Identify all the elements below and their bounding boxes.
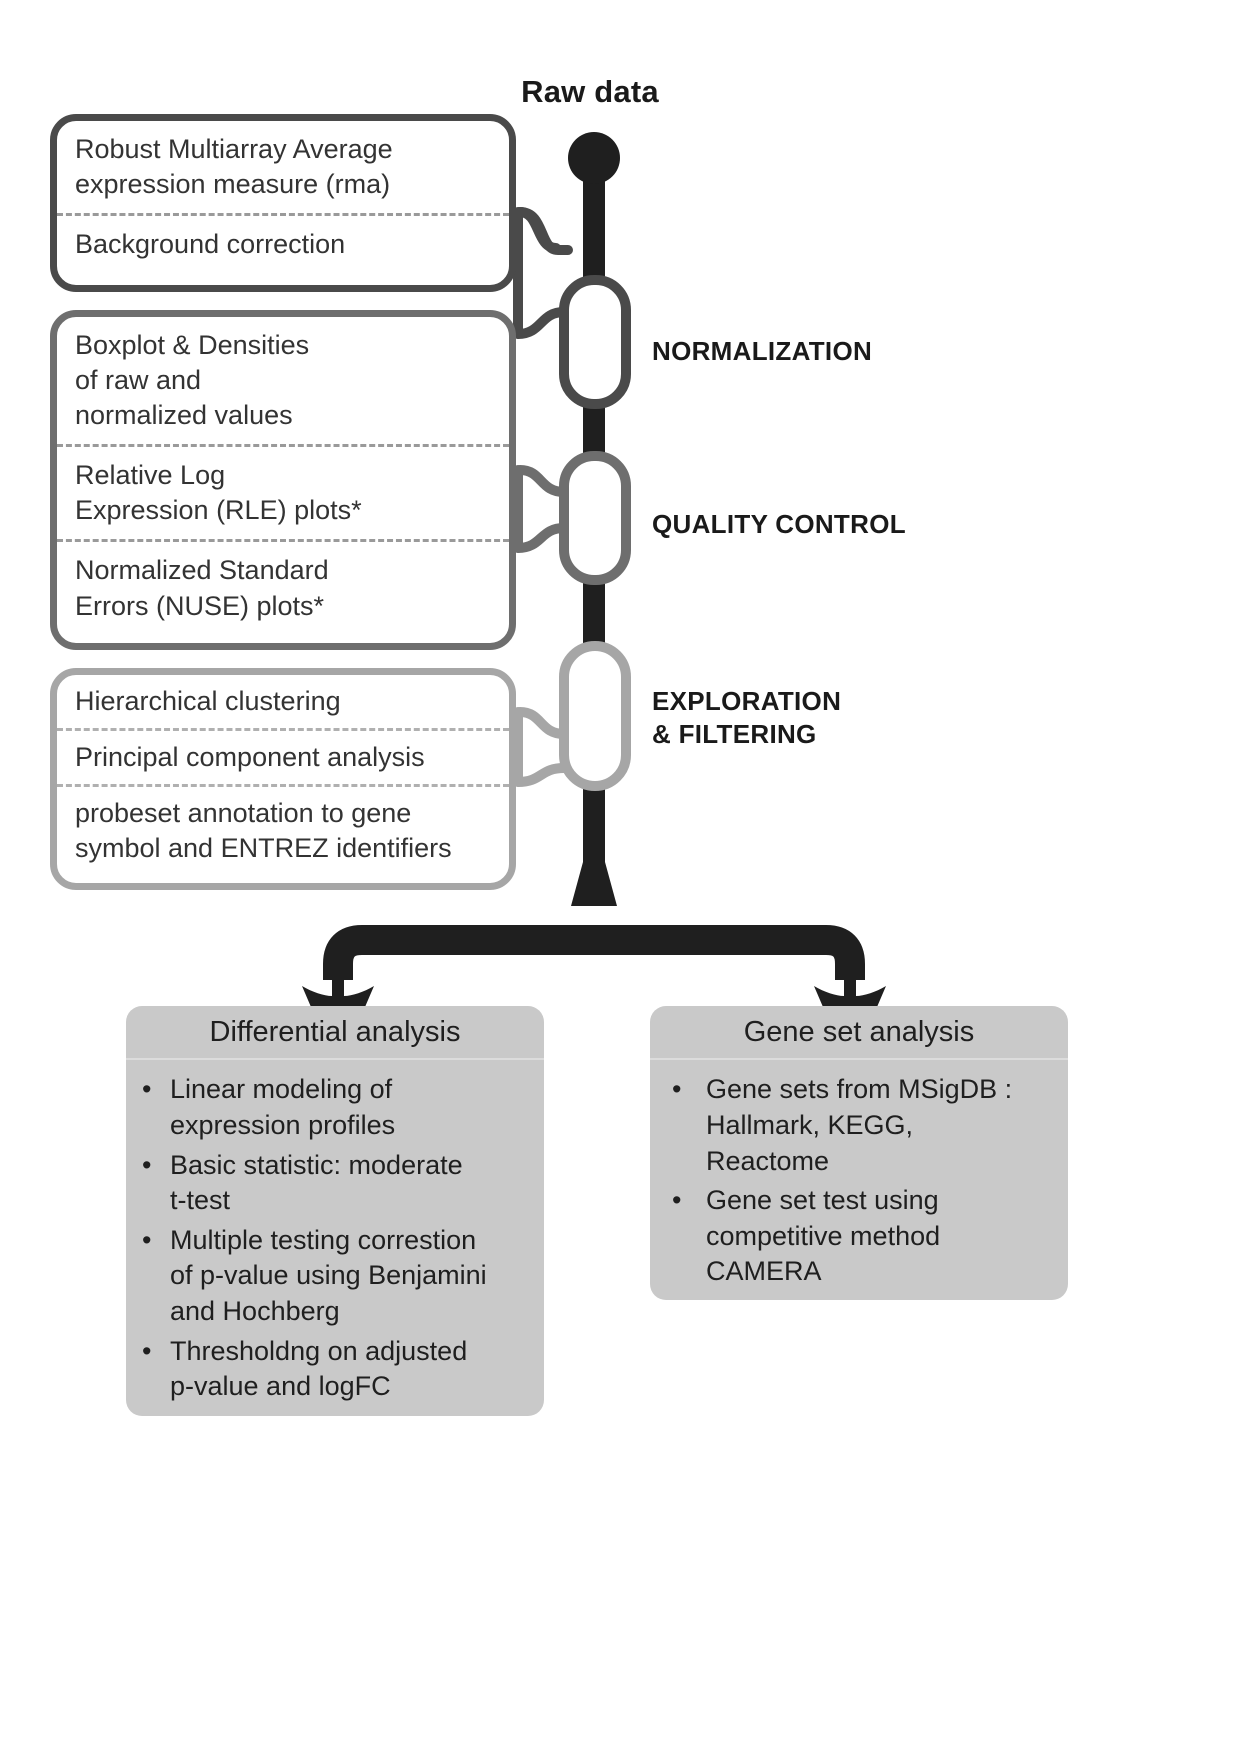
list-item: •Gene set test using competitive method … [672,1183,1054,1290]
stage-label-normalization: NORMALIZATION [652,335,872,368]
list-item: •Basic statistic: moderate t-test [142,1148,530,1219]
stage-row: Boxplot & Densities of raw and normalize… [57,317,509,444]
bullet-icon: • [672,1183,681,1219]
stage-box-quality-control: Boxplot & Densities of raw and normalize… [50,310,516,650]
panel-title: Differential analysis [126,1006,544,1060]
raw-data-title: Raw data [440,74,740,110]
bullet-icon: • [142,1148,151,1184]
stage-label-exploration-filtering: EXPLORATION & FILTERING [652,685,841,752]
list-item: •Thresholdng on adjusted p-value and log… [142,1334,530,1405]
list-item-text: Linear modeling of expression profiles [170,1074,395,1140]
list-item: •Multiple testing correstion of p-value … [142,1223,530,1330]
output-panel-gene-set-analysis: Gene set analysis •Gene sets from MSigDB… [650,1006,1068,1300]
panel-bullet-list: •Linear modeling of expression profiles … [126,1060,544,1416]
list-item: •Gene sets from MSigDB : Hallmark, KEGG,… [672,1072,1054,1179]
list-item-text: Gene set test using competitive method C… [706,1185,940,1286]
stage-node-normalization [518,212,626,404]
stage-node-exploration-filtering [518,646,626,786]
stage-row: Background correction [57,213,509,273]
panel-bullet-list: •Gene sets from MSigDB : Hallmark, KEGG,… [650,1060,1068,1300]
stage-box-exploration-filtering: Hierarchical clustering Principal compon… [50,668,516,890]
bullet-icon: • [142,1334,151,1370]
list-item-text: Thresholdng on adjusted p-value and logF… [170,1336,467,1402]
list-item: •Linear modeling of expression profiles [142,1072,530,1143]
stage-box-normalization: Robust Multiarray Average expression mea… [50,114,516,292]
bullet-icon: • [142,1072,151,1108]
bullet-icon: • [142,1223,151,1259]
panel-title: Gene set analysis [650,1006,1068,1060]
list-item-text: Gene sets from MSigDB : Hallmark, KEGG, … [706,1074,1012,1175]
stage-row: Hierarchical clustering [57,675,509,728]
bullet-icon: • [672,1072,681,1108]
output-panel-differential-analysis: Differential analysis •Linear modeling o… [126,1006,544,1416]
stage-row: Principal component analysis [57,728,509,784]
stage-node-quality-control [518,456,626,580]
stage-row: probeset annotation to gene symbol and E… [57,784,509,875]
raw-data-node-icon [568,132,620,184]
list-item-text: Basic statistic: moderate t-test [170,1150,463,1216]
stage-row: Robust Multiarray Average expression mea… [57,121,509,213]
list-item-text: Multiple testing correstion of p-value u… [170,1225,487,1326]
workflow-diagram: Raw data Robust Multiarray Average expre… [0,0,1240,1753]
stage-row: Normalized Standard Errors (NUSE) plots* [57,539,509,634]
stage-row: Relative Log Expression (RLE) plots* [57,444,509,539]
stage-label-quality-control: QUALITY CONTROL [652,508,906,541]
